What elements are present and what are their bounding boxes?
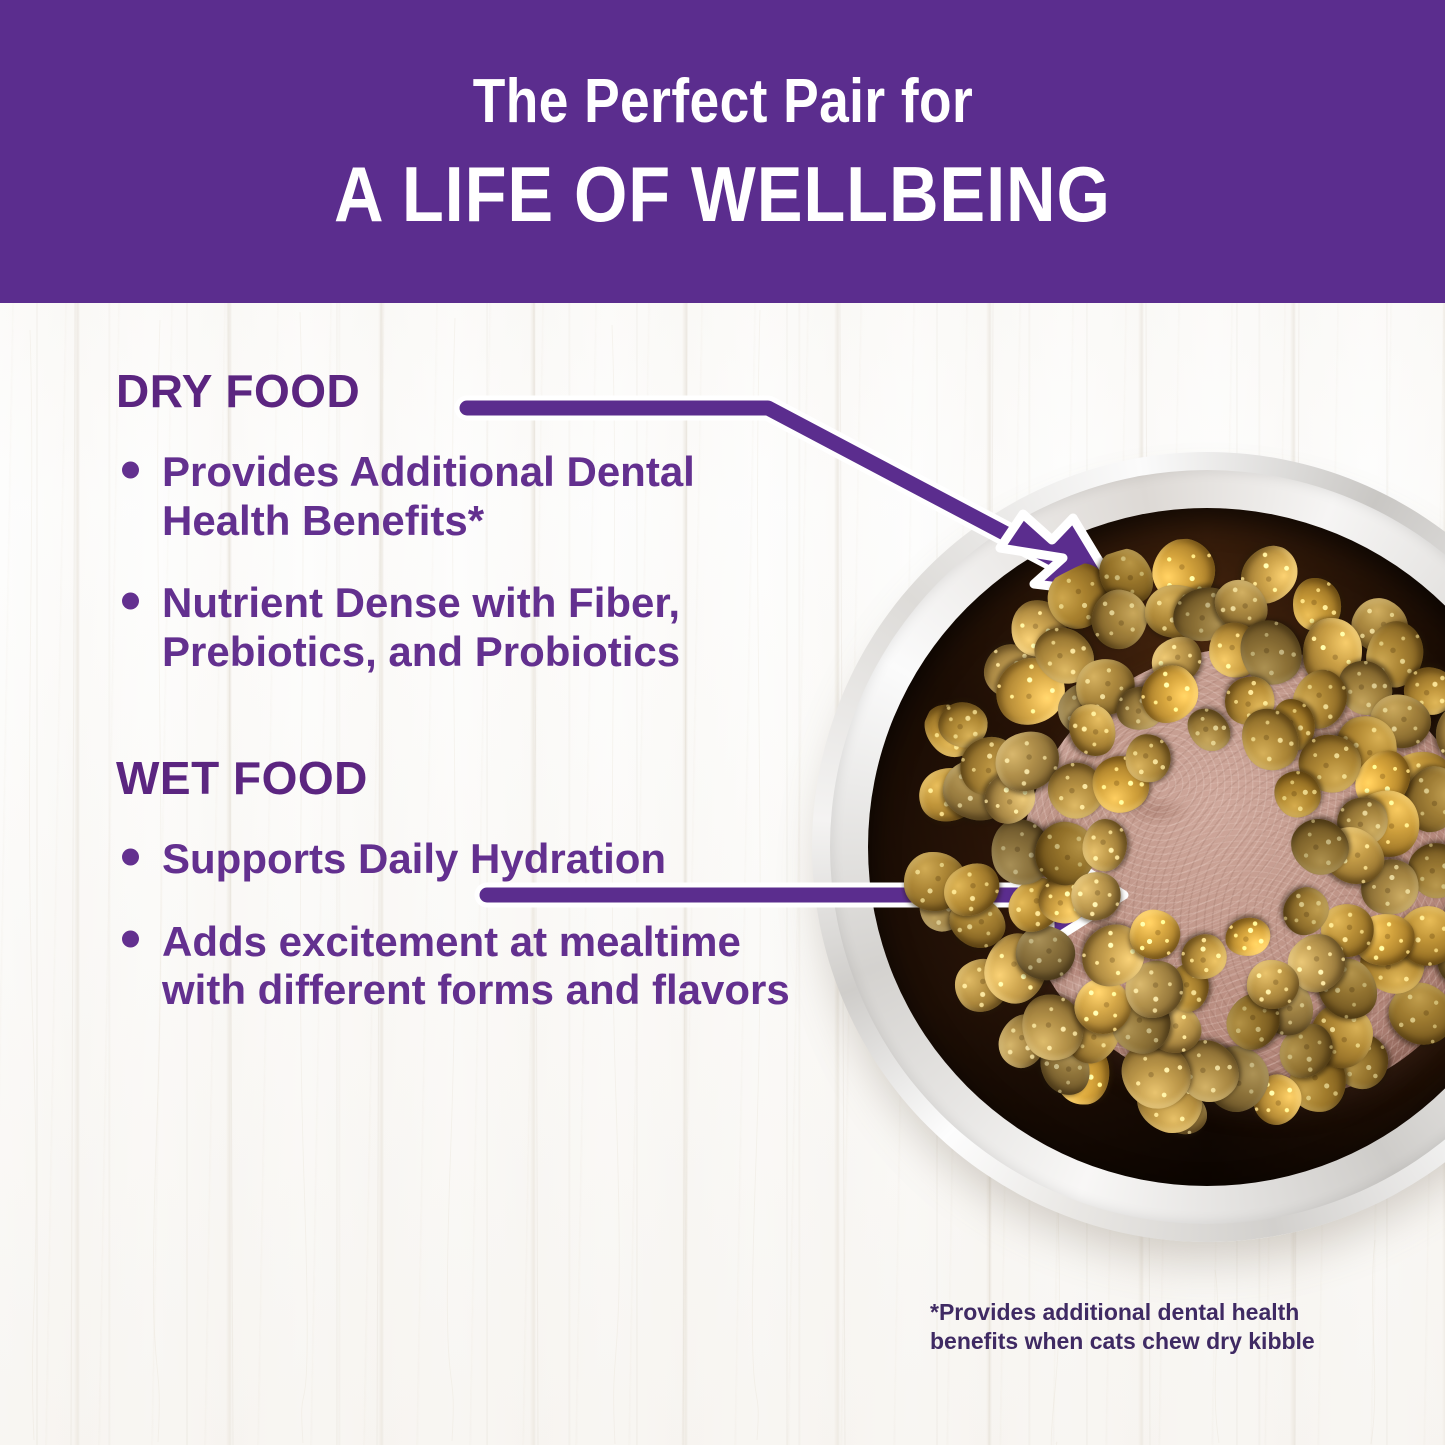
pet-food-bowl-photo [812,452,1445,1242]
wet-food-bullet-list: Supports Daily Hydration Adds excitement… [116,835,816,1015]
section-heading-dry-food: DRY FOOD [116,368,816,414]
list-item: Adds excitement at mealtime with differe… [116,918,816,1015]
benefits-copy-column: DRY FOOD Provides Additional Dental Heal… [116,368,816,1015]
header-banner: The Perfect Pair for A LIFE OF WELLBEING [0,0,1445,303]
banner-headline-line1: The Perfect Pair for [472,71,972,133]
footnote-text: *Provides additional dental health benef… [930,1298,1370,1357]
list-item: Supports Daily Hydration [116,835,816,884]
product-infographic: The Perfect Pair for A LIFE OF WELLBEING… [0,0,1445,1445]
list-item: Nutrient Dense with Fiber, Prebiotics, a… [116,579,816,676]
list-item: Provides Additional Dental Health Benefi… [116,448,816,545]
wet-food-block: WET FOOD Supports Daily Hydration Adds e… [116,755,816,1015]
bullet-text: Provides Additional Dental Health Benefi… [162,448,695,544]
dry-food-bullet-list: Provides Additional Dental Health Benefi… [116,448,816,677]
bullet-text: Adds excitement at mealtime with differe… [162,918,790,1014]
section-heading-wet-food: WET FOOD [116,755,816,801]
bullet-dot-icon [122,593,139,610]
bullet-dot-icon [122,931,139,948]
bullet-text: Supports Daily Hydration [162,835,666,882]
banner-headline-line2: A LIFE OF WELLBEING [334,155,1111,233]
bullet-dot-icon [122,848,139,865]
bullet-dot-icon [122,461,139,478]
bullet-text: Nutrient Dense with Fiber, Prebiotics, a… [162,579,680,675]
